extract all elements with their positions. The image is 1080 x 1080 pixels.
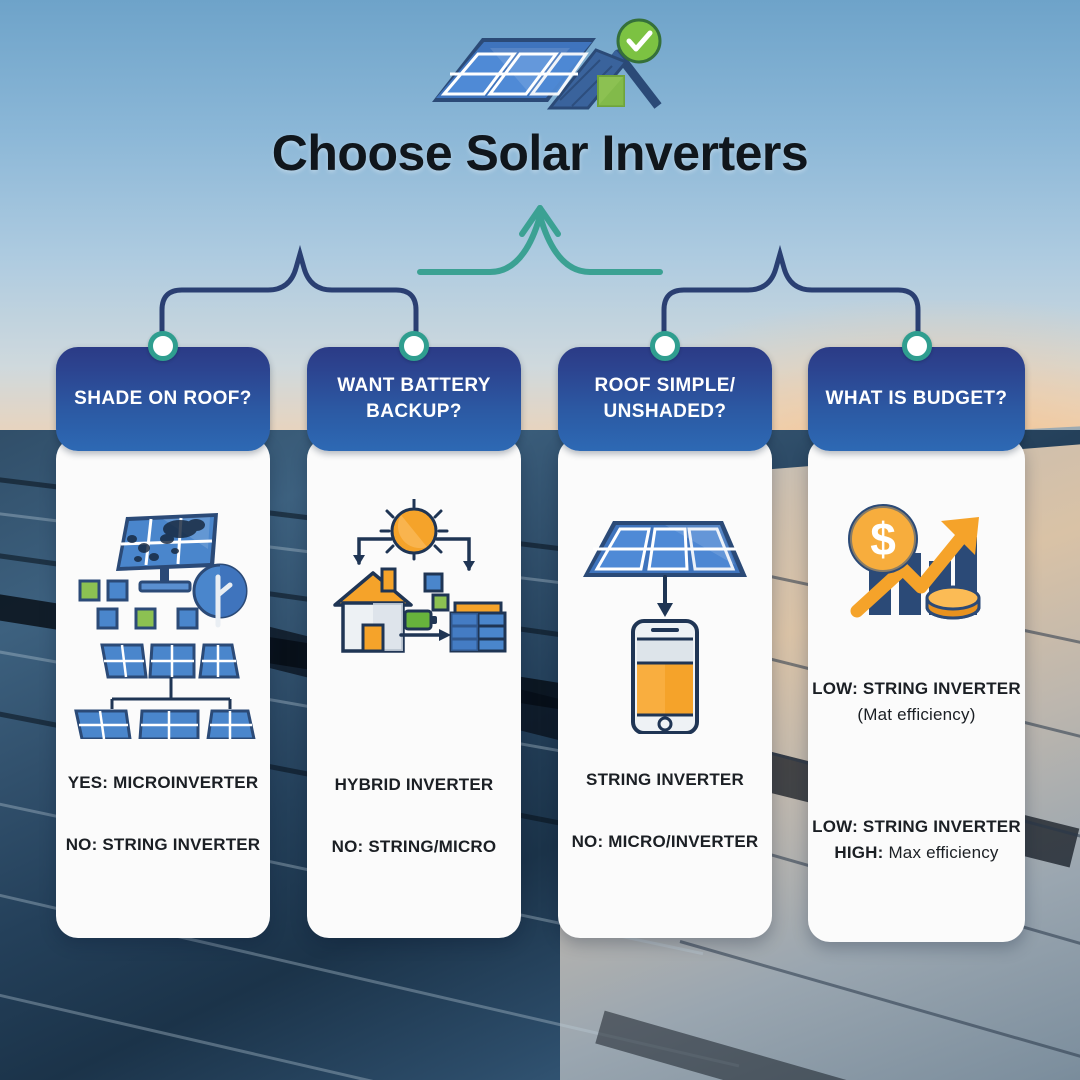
card-body: STRING INVERTER NO: MICRO/INVERTER — [558, 437, 772, 938]
connector-node — [399, 331, 429, 361]
card-text-lines: HYBRID INVERTER NO: STRING/MICRO — [307, 775, 521, 857]
card-text-lines: STRING INVERTER NO: MICRO/INVERTER — [558, 770, 772, 852]
sun-house-battery-icon — [307, 499, 521, 659]
card-header: ROOF SIMPLE/ UNSHADED? — [558, 347, 772, 451]
card-line-normal: Max efficiency — [884, 843, 999, 862]
card-line: YES: MICROINVERTER — [56, 773, 270, 793]
card-want-battery-backup[interactable]: WANT BATTERY BACKUP? — [307, 347, 521, 451]
card-text-lines: LOW: STRING INVERTER HIGH: Max efficienc… — [808, 817, 1025, 863]
shaded-solar-panel-array-icon — [56, 499, 270, 739]
connector-node — [902, 331, 932, 361]
card-overlay-line: (Mat efficiency) — [808, 705, 1025, 725]
card-roof-simple-unshaded[interactable]: ROOF SIMPLE/ UNSHADED? — [558, 347, 772, 451]
connector-node — [650, 331, 680, 361]
card-header: SHADE ON ROOF? — [56, 347, 270, 451]
card-body: $ LOW: STRING INVERTER (Mat efficiency) … — [808, 437, 1025, 942]
connector-node — [148, 331, 178, 361]
card-body: YES: MICROINVERTER NO: STRING INVERTER — [56, 437, 270, 938]
card-body: HYBRID INVERTER NO: STRING/MICRO — [307, 437, 521, 938]
card-shade-on-roof[interactable]: SHADE ON ROOF? — [56, 347, 270, 451]
card-line: STRING INVERTER — [558, 770, 772, 790]
card-line: HIGH: Max efficiency — [808, 843, 1025, 863]
card-what-is-budget[interactable]: WHAT IS BUDGET? — [808, 347, 1025, 451]
card-line-bold: HIGH: — [834, 843, 883, 862]
svg-text:$: $ — [870, 513, 896, 565]
card-line: NO: STRING/MICRO — [307, 837, 521, 857]
card-line: LOW: STRING INVERTER — [808, 817, 1025, 837]
card-line: NO: MICRO/INVERTER — [558, 832, 772, 852]
solar-panel-phone-charge-icon — [558, 499, 772, 734]
hero-solar-roof-illustration — [420, 8, 680, 120]
card-overlay-text: LOW: STRING INVERTER (Mat efficiency) — [808, 679, 1025, 725]
card-text-lines: YES: MICROINVERTER NO: STRING INVERTER — [56, 773, 270, 855]
card-line: NO: STRING INVERTER — [56, 835, 270, 855]
card-header: WHAT IS BUDGET? — [808, 347, 1025, 451]
card-line: HYBRID INVERTER — [307, 775, 521, 795]
card-header: WANT BATTERY BACKUP? — [307, 347, 521, 451]
page-title: Choose Solar Inverters — [0, 124, 1080, 182]
dollar-growth-chart-icon: $ — [808, 495, 1025, 621]
card-overlay-line: LOW: STRING INVERTER — [808, 679, 1025, 699]
